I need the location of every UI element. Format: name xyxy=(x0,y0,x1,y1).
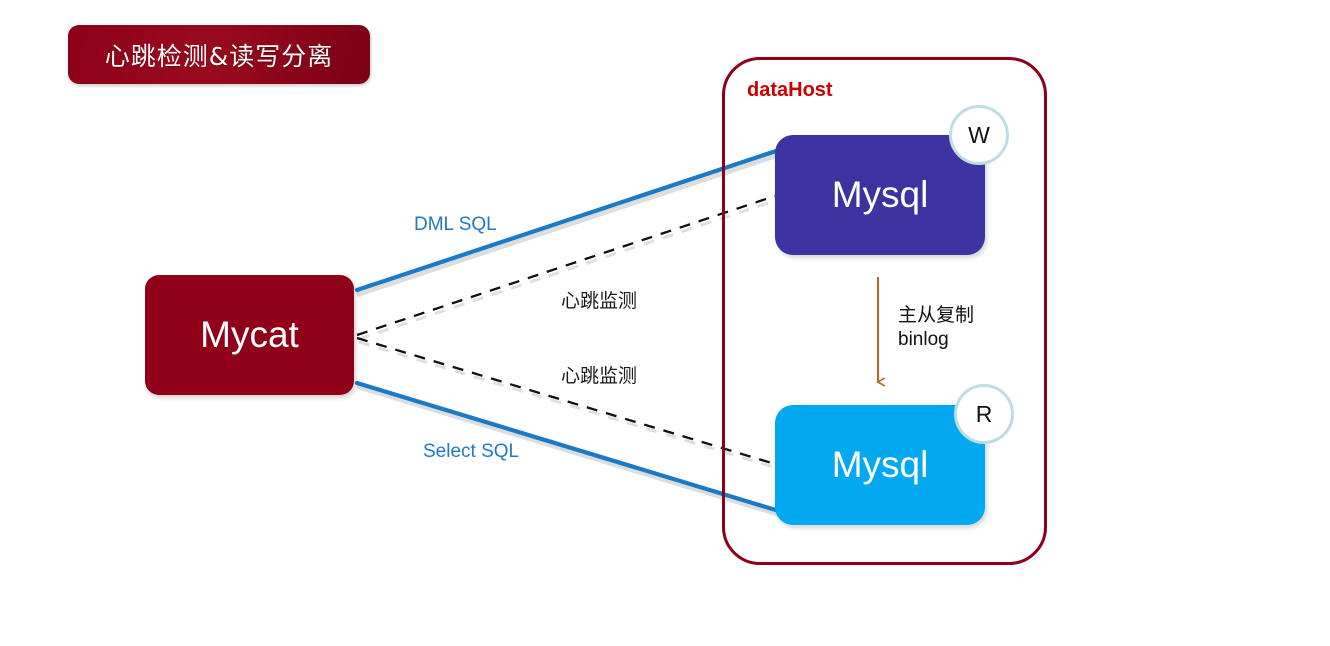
write-role-badge-label: W xyxy=(968,122,990,149)
heartbeat-label-bottom: 心跳监测 xyxy=(561,361,637,388)
replication-label-line1: 主从复制 xyxy=(898,304,974,328)
title-banner-text: 心跳检测&读写分离 xyxy=(105,37,334,73)
replication-label: 主从复制 binlog xyxy=(898,304,974,352)
node-mycat-label: Mycat xyxy=(200,314,299,356)
select-sql-label: Select SQL xyxy=(423,441,519,463)
read-role-badge-label: R xyxy=(976,401,993,428)
title-banner: 心跳检测&读写分离 xyxy=(68,25,370,84)
node-mysql-read[interactable]: Mysql xyxy=(775,405,985,525)
node-mysql-write-label: Mysql xyxy=(832,174,929,216)
node-mycat[interactable]: Mycat xyxy=(145,275,354,395)
write-role-badge: W xyxy=(949,105,1009,165)
datahost-label: dataHost xyxy=(747,79,833,102)
node-mysql-read-label: Mysql xyxy=(832,444,929,486)
dml-sql-label: DML SQL xyxy=(414,214,497,236)
diagram-canvas: 心跳检测&读写分离 dataHost Mycat Mysql Mysql W R… xyxy=(0,0,1330,646)
node-mysql-write[interactable]: Mysql xyxy=(775,135,985,255)
read-role-badge: R xyxy=(954,384,1014,444)
replication-label-line2: binlog xyxy=(898,328,974,352)
heartbeat-label-top: 心跳监测 xyxy=(561,286,637,313)
